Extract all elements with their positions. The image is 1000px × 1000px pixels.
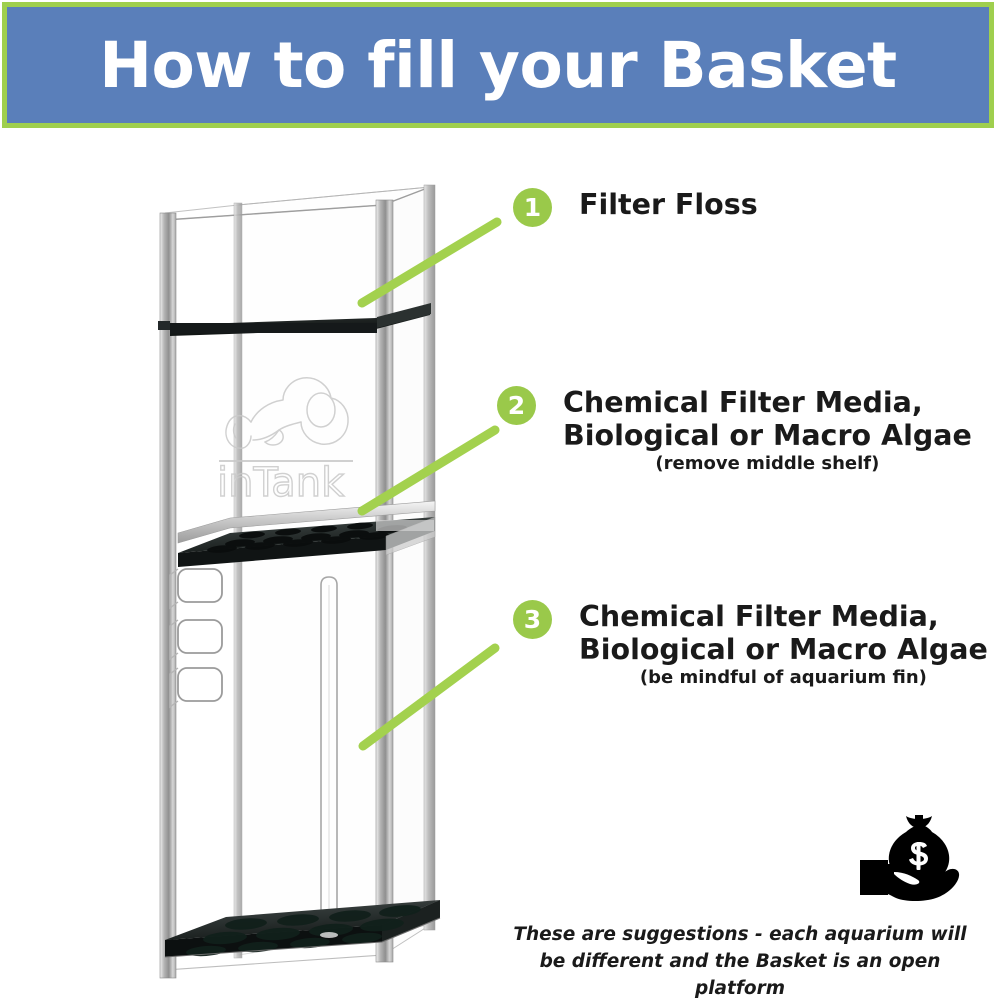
callout-3: 3 Chemical Filter Media, Biological or M…: [513, 600, 988, 688]
callout-3-title: Chemical Filter Media, Biological or Mac…: [579, 600, 988, 666]
footer-note: These are suggestions - each aquarium wi…: [500, 922, 980, 1000]
left-wall-slots: [170, 569, 222, 707]
infographic-page: How to fill your Basket: [0, 0, 1000, 1000]
money-bag-in-hand-icon: [858, 812, 964, 910]
aquarium-filter-basket-illustration: [130, 165, 490, 990]
page-title: How to fill your Basket: [99, 34, 896, 97]
vertical-tube: [321, 577, 337, 933]
callout-1: 1 Filter Floss: [513, 188, 758, 227]
callout-2-title: Chemical Filter Media, Biological or Mac…: [563, 386, 972, 452]
callout-3-text: Chemical Filter Media, Biological or Mac…: [579, 600, 988, 688]
callout-2-text: Chemical Filter Media, Biological or Mac…: [563, 386, 972, 474]
callout-1-number: 1: [513, 188, 552, 227]
callout-3-subtitle: (be mindful of aquarium fin): [579, 667, 988, 688]
callout-2: 2 Chemical Filter Media, Biological or M…: [497, 386, 972, 474]
callout-2-subtitle: (remove middle shelf): [563, 453, 972, 474]
callout-1-text: Filter Floss: [579, 188, 758, 221]
callout-1-title: Filter Floss: [579, 188, 758, 221]
callout-3-number: 3: [513, 600, 552, 639]
callout-2-number: 2: [497, 386, 536, 425]
header-banner: How to fill your Basket: [2, 2, 994, 128]
